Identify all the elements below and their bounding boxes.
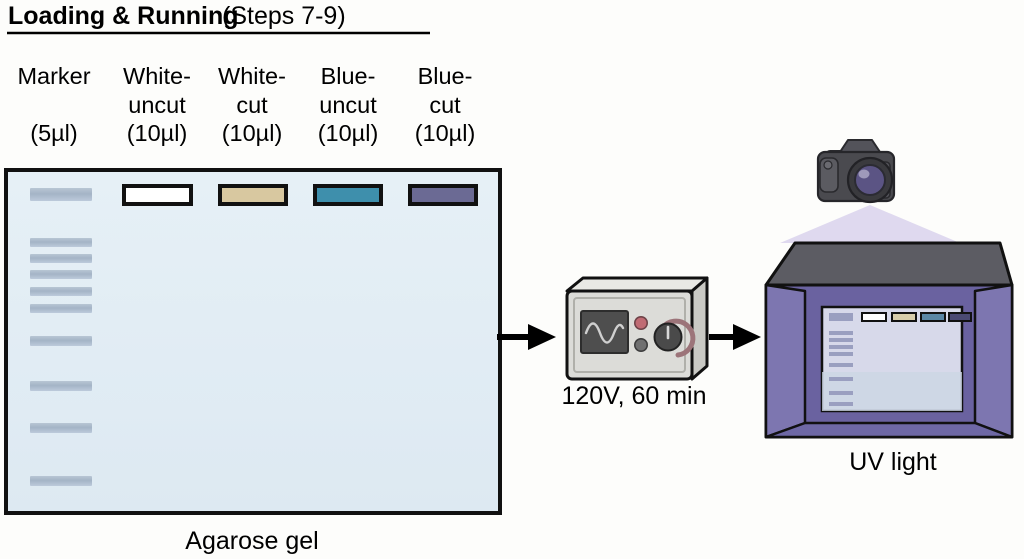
psu-screen <box>581 311 628 353</box>
lane-label-white-uncut-line1: White- <box>123 63 191 89</box>
mini-marker-band <box>829 391 853 395</box>
agarose-gel: Agarose gel <box>6 170 500 555</box>
marker-band <box>30 238 92 247</box>
well-white-cut[interactable] <box>220 186 286 204</box>
marker-band <box>30 381 92 391</box>
mini-marker-band <box>829 352 853 356</box>
well-blue-uncut[interactable] <box>315 186 381 204</box>
well-blue-cut[interactable] <box>410 186 476 204</box>
camera-lens-glass <box>855 165 885 195</box>
power-supply: 120V, 60 min <box>561 278 707 410</box>
mini-marker-band <box>829 363 853 367</box>
lane-label-blue-uncut-volume: (10µl) <box>318 120 379 146</box>
camera-dial-icon <box>824 161 832 169</box>
mini-marker-band <box>829 345 853 349</box>
mini-well-blue-uncut <box>921 313 945 321</box>
marker-band <box>30 336 92 346</box>
lane-label-blue-cut-volume: (10µl) <box>415 120 476 146</box>
lane-label-blue-cut-line2: cut <box>429 92 461 118</box>
psu-top-panel <box>567 278 707 291</box>
uv-box-floor <box>766 423 1012 437</box>
mini-well-white-cut <box>892 313 916 321</box>
header-steps: (Steps 7-9) <box>222 2 346 30</box>
marker-band <box>30 476 92 486</box>
lane-label-marker-line1: Marker <box>17 63 90 89</box>
marker-band <box>30 304 92 313</box>
lane-label-white-cut-line1: White- <box>218 63 286 89</box>
camera-lens-highlight <box>859 170 870 179</box>
mini-well-white-uncut <box>862 313 886 321</box>
marker-band <box>30 188 92 201</box>
uv-box-caption: UV light <box>849 448 937 476</box>
mini-marker-band <box>829 402 853 406</box>
lane-label-white-cut-line2: cut <box>236 92 268 118</box>
marker-band <box>30 270 92 279</box>
lane-label-white-uncut-line2: uncut <box>128 92 186 118</box>
uv-box-left-wall <box>766 285 805 437</box>
lane-label-white-uncut-volume: (10µl) <box>127 120 188 146</box>
camera-prism <box>840 140 880 152</box>
uv-box-right-wall <box>975 285 1012 437</box>
header-title: Loading & Running <box>8 2 239 30</box>
lane-label-marker-volume: (5µl) <box>30 120 77 146</box>
mini-marker-band <box>829 331 853 335</box>
psu-side-panel <box>692 278 707 379</box>
marker-band <box>30 287 92 296</box>
mini-well-blue-cut <box>949 313 971 321</box>
lane-label-blue-uncut-line1: Blue- <box>321 63 376 89</box>
lane-label-white-cut-volume: (10µl) <box>222 120 283 146</box>
psu-led-status-icon <box>635 339 647 351</box>
uv-box-mini-gel <box>822 307 971 411</box>
gel-caption: Agarose gel <box>185 527 318 555</box>
lane-label-blue-uncut-line2: uncut <box>319 92 377 118</box>
power-supply-caption: 120V, 60 min <box>561 382 706 410</box>
mini-marker-band <box>829 313 853 321</box>
lane-label-blue-cut-line1: Blue- <box>418 63 473 89</box>
mini-marker-band <box>829 338 853 342</box>
uv-box-top <box>766 243 1012 285</box>
well-white-uncut[interactable] <box>124 186 191 204</box>
protocol-diagram: Loading & Running (Steps 7-9) Marker (5µ… <box>0 0 1024 559</box>
marker-band <box>30 254 92 263</box>
marker-band <box>30 423 92 433</box>
psu-led-power-icon <box>635 317 647 329</box>
mini-marker-band <box>829 377 853 381</box>
